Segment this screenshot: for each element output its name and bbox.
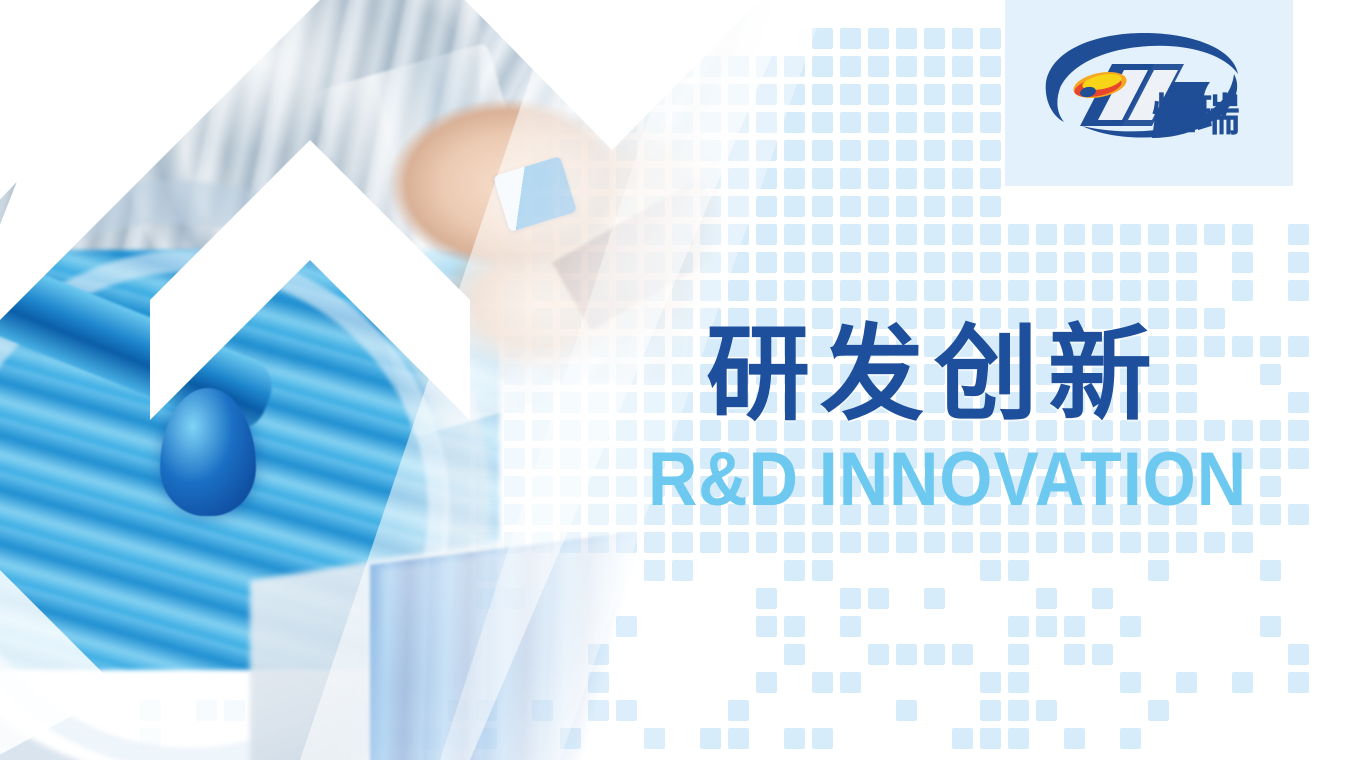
pattern-square bbox=[896, 252, 917, 273]
pattern-square bbox=[868, 56, 889, 77]
pattern-square bbox=[1148, 700, 1169, 721]
hengrui-logo-mark: 恒瑞 bbox=[1038, 30, 1258, 148]
pattern-square bbox=[840, 252, 861, 273]
pattern-square bbox=[952, 168, 973, 189]
pattern-square bbox=[1288, 252, 1309, 273]
pattern-square bbox=[812, 56, 833, 77]
pattern-square bbox=[924, 252, 945, 273]
pattern-square bbox=[1064, 224, 1085, 245]
pattern-square bbox=[812, 84, 833, 105]
pattern-square bbox=[812, 168, 833, 189]
page-subtitle-en: R&D INNOVATION bbox=[648, 442, 1247, 518]
headline-block: 研发创新 R&D INNOVATION bbox=[706, 322, 1314, 518]
pattern-square bbox=[980, 532, 1001, 553]
pattern-square bbox=[812, 728, 833, 749]
pattern-square bbox=[924, 56, 945, 77]
pattern-square bbox=[1064, 252, 1085, 273]
pattern-square bbox=[924, 140, 945, 161]
pattern-square bbox=[1064, 728, 1085, 749]
pattern-square bbox=[896, 532, 917, 553]
pattern-square bbox=[840, 84, 861, 105]
pattern-square bbox=[868, 224, 889, 245]
pattern-square bbox=[1148, 532, 1169, 553]
pattern-square bbox=[896, 196, 917, 217]
pattern-square bbox=[1036, 280, 1057, 301]
pattern-square bbox=[896, 280, 917, 301]
pattern-square bbox=[868, 280, 889, 301]
pattern-square bbox=[840, 672, 861, 693]
pattern-square bbox=[1232, 672, 1253, 693]
pattern-square bbox=[896, 168, 917, 189]
pattern-square bbox=[896, 644, 917, 665]
pattern-square bbox=[812, 140, 833, 161]
pattern-square bbox=[1036, 224, 1057, 245]
pattern-square bbox=[896, 28, 917, 49]
pattern-square bbox=[980, 28, 1001, 49]
pattern-square bbox=[952, 280, 973, 301]
pattern-square bbox=[952, 84, 973, 105]
pattern-square bbox=[840, 56, 861, 77]
pattern-square bbox=[924, 196, 945, 217]
pattern-square bbox=[980, 112, 1001, 133]
pattern-square bbox=[924, 84, 945, 105]
pattern-square bbox=[1288, 644, 1309, 665]
pattern-square bbox=[1260, 616, 1281, 637]
pattern-square bbox=[812, 280, 833, 301]
pattern-square bbox=[1036, 252, 1057, 273]
pattern-square bbox=[812, 532, 833, 553]
pattern-square bbox=[924, 28, 945, 49]
pattern-square bbox=[1008, 728, 1029, 749]
pattern-square bbox=[868, 252, 889, 273]
hengrui-logo[interactable]: 恒瑞 bbox=[1038, 30, 1258, 148]
pattern-square bbox=[1008, 224, 1029, 245]
pattern-square bbox=[952, 644, 973, 665]
pattern-square bbox=[980, 140, 1001, 161]
pattern-square bbox=[840, 588, 861, 609]
pattern-square bbox=[1008, 616, 1029, 637]
pattern-square bbox=[1120, 252, 1141, 273]
pattern-square bbox=[868, 112, 889, 133]
pattern-square bbox=[1288, 672, 1309, 693]
pattern-square bbox=[952, 728, 973, 749]
pattern-square bbox=[1232, 532, 1253, 553]
pattern-square bbox=[868, 140, 889, 161]
pattern-square bbox=[1008, 532, 1029, 553]
pattern-square bbox=[980, 84, 1001, 105]
pattern-square bbox=[1008, 672, 1029, 693]
pattern-square bbox=[812, 672, 833, 693]
pattern-square bbox=[1176, 532, 1197, 553]
pattern-square bbox=[952, 28, 973, 49]
pattern-square bbox=[1204, 532, 1225, 553]
pattern-square bbox=[1120, 280, 1141, 301]
pattern-square bbox=[980, 280, 1001, 301]
page-title-cn: 研发创新 bbox=[706, 322, 1314, 426]
pattern-square bbox=[952, 224, 973, 245]
pattern-square bbox=[812, 252, 833, 273]
pattern-square bbox=[1232, 252, 1253, 273]
pattern-square bbox=[1008, 560, 1029, 581]
pattern-square bbox=[1036, 588, 1057, 609]
pattern-square bbox=[1120, 616, 1141, 637]
pattern-square bbox=[1176, 280, 1197, 301]
pattern-square bbox=[1148, 280, 1169, 301]
pattern-square bbox=[1232, 224, 1253, 245]
pattern-square bbox=[952, 140, 973, 161]
pattern-square bbox=[1064, 280, 1085, 301]
pattern-square bbox=[896, 112, 917, 133]
rd-innovation-banner: 研发创新 R&D INNOVATION 恒瑞 bbox=[0, 0, 1350, 760]
pattern-square bbox=[840, 140, 861, 161]
pattern-square bbox=[840, 224, 861, 245]
pattern-square bbox=[980, 56, 1001, 77]
pattern-square bbox=[1120, 224, 1141, 245]
pattern-square bbox=[980, 560, 1001, 581]
pattern-square bbox=[952, 532, 973, 553]
pattern-square bbox=[924, 588, 945, 609]
pattern-square bbox=[1092, 224, 1113, 245]
pattern-square bbox=[1176, 252, 1197, 273]
pattern-square bbox=[840, 112, 861, 133]
pattern-square bbox=[952, 196, 973, 217]
pattern-square bbox=[1092, 532, 1113, 553]
pattern-square bbox=[896, 700, 917, 721]
pattern-square bbox=[840, 28, 861, 49]
pattern-square bbox=[1036, 616, 1057, 637]
pattern-square bbox=[1120, 728, 1141, 749]
pattern-square bbox=[924, 168, 945, 189]
pattern-square bbox=[952, 252, 973, 273]
pattern-square bbox=[980, 168, 1001, 189]
pattern-square bbox=[980, 252, 1001, 273]
pattern-square bbox=[924, 532, 945, 553]
pattern-square bbox=[868, 588, 889, 609]
pattern-square bbox=[840, 196, 861, 217]
pattern-square bbox=[812, 112, 833, 133]
pattern-square bbox=[1036, 700, 1057, 721]
pattern-square bbox=[1204, 224, 1225, 245]
pattern-square bbox=[980, 672, 1001, 693]
pattern-square bbox=[1008, 252, 1029, 273]
pattern-square bbox=[868, 84, 889, 105]
pattern-square bbox=[896, 224, 917, 245]
pattern-square bbox=[868, 196, 889, 217]
pattern-square bbox=[868, 644, 889, 665]
pattern-square bbox=[1176, 672, 1197, 693]
pattern-square bbox=[980, 196, 1001, 217]
pattern-square bbox=[1232, 280, 1253, 301]
pattern-square bbox=[812, 28, 833, 49]
pattern-square bbox=[924, 644, 945, 665]
pattern-square bbox=[952, 112, 973, 133]
pattern-square bbox=[924, 112, 945, 133]
pattern-square bbox=[952, 56, 973, 77]
pattern-square bbox=[980, 700, 1001, 721]
pattern-square bbox=[840, 616, 861, 637]
pattern-square bbox=[1008, 280, 1029, 301]
pattern-square bbox=[812, 560, 833, 581]
pattern-square bbox=[812, 224, 833, 245]
pattern-square bbox=[1120, 532, 1141, 553]
pattern-square bbox=[840, 168, 861, 189]
pattern-square bbox=[1008, 700, 1029, 721]
pattern-square bbox=[1008, 644, 1029, 665]
pattern-square bbox=[1288, 224, 1309, 245]
pattern-square bbox=[1092, 280, 1113, 301]
pattern-square bbox=[1064, 644, 1085, 665]
pattern-square bbox=[1092, 252, 1113, 273]
pattern-square bbox=[1148, 224, 1169, 245]
pattern-square bbox=[1148, 252, 1169, 273]
pattern-square bbox=[1288, 280, 1309, 301]
pattern-square bbox=[812, 196, 833, 217]
pattern-square bbox=[980, 728, 1001, 749]
pattern-square bbox=[896, 84, 917, 105]
pattern-square bbox=[1064, 532, 1085, 553]
pattern-square bbox=[868, 28, 889, 49]
pattern-square bbox=[868, 532, 889, 553]
pattern-square bbox=[1092, 588, 1113, 609]
pattern-square bbox=[980, 224, 1001, 245]
pattern-square bbox=[868, 168, 889, 189]
pattern-square bbox=[896, 140, 917, 161]
pattern-square bbox=[924, 280, 945, 301]
pattern-square bbox=[840, 532, 861, 553]
logo-wordmark: 恒瑞 bbox=[1152, 90, 1240, 141]
pattern-square bbox=[924, 224, 945, 245]
pattern-square bbox=[1092, 644, 1113, 665]
pattern-square bbox=[1036, 532, 1057, 553]
pattern-square bbox=[1148, 560, 1169, 581]
pattern-square bbox=[1120, 672, 1141, 693]
laboratory-photo-collage bbox=[0, 0, 800, 760]
pattern-square bbox=[1064, 616, 1085, 637]
pattern-square bbox=[1260, 560, 1281, 581]
pattern-square bbox=[840, 280, 861, 301]
pattern-square bbox=[1176, 224, 1197, 245]
pattern-square bbox=[896, 56, 917, 77]
